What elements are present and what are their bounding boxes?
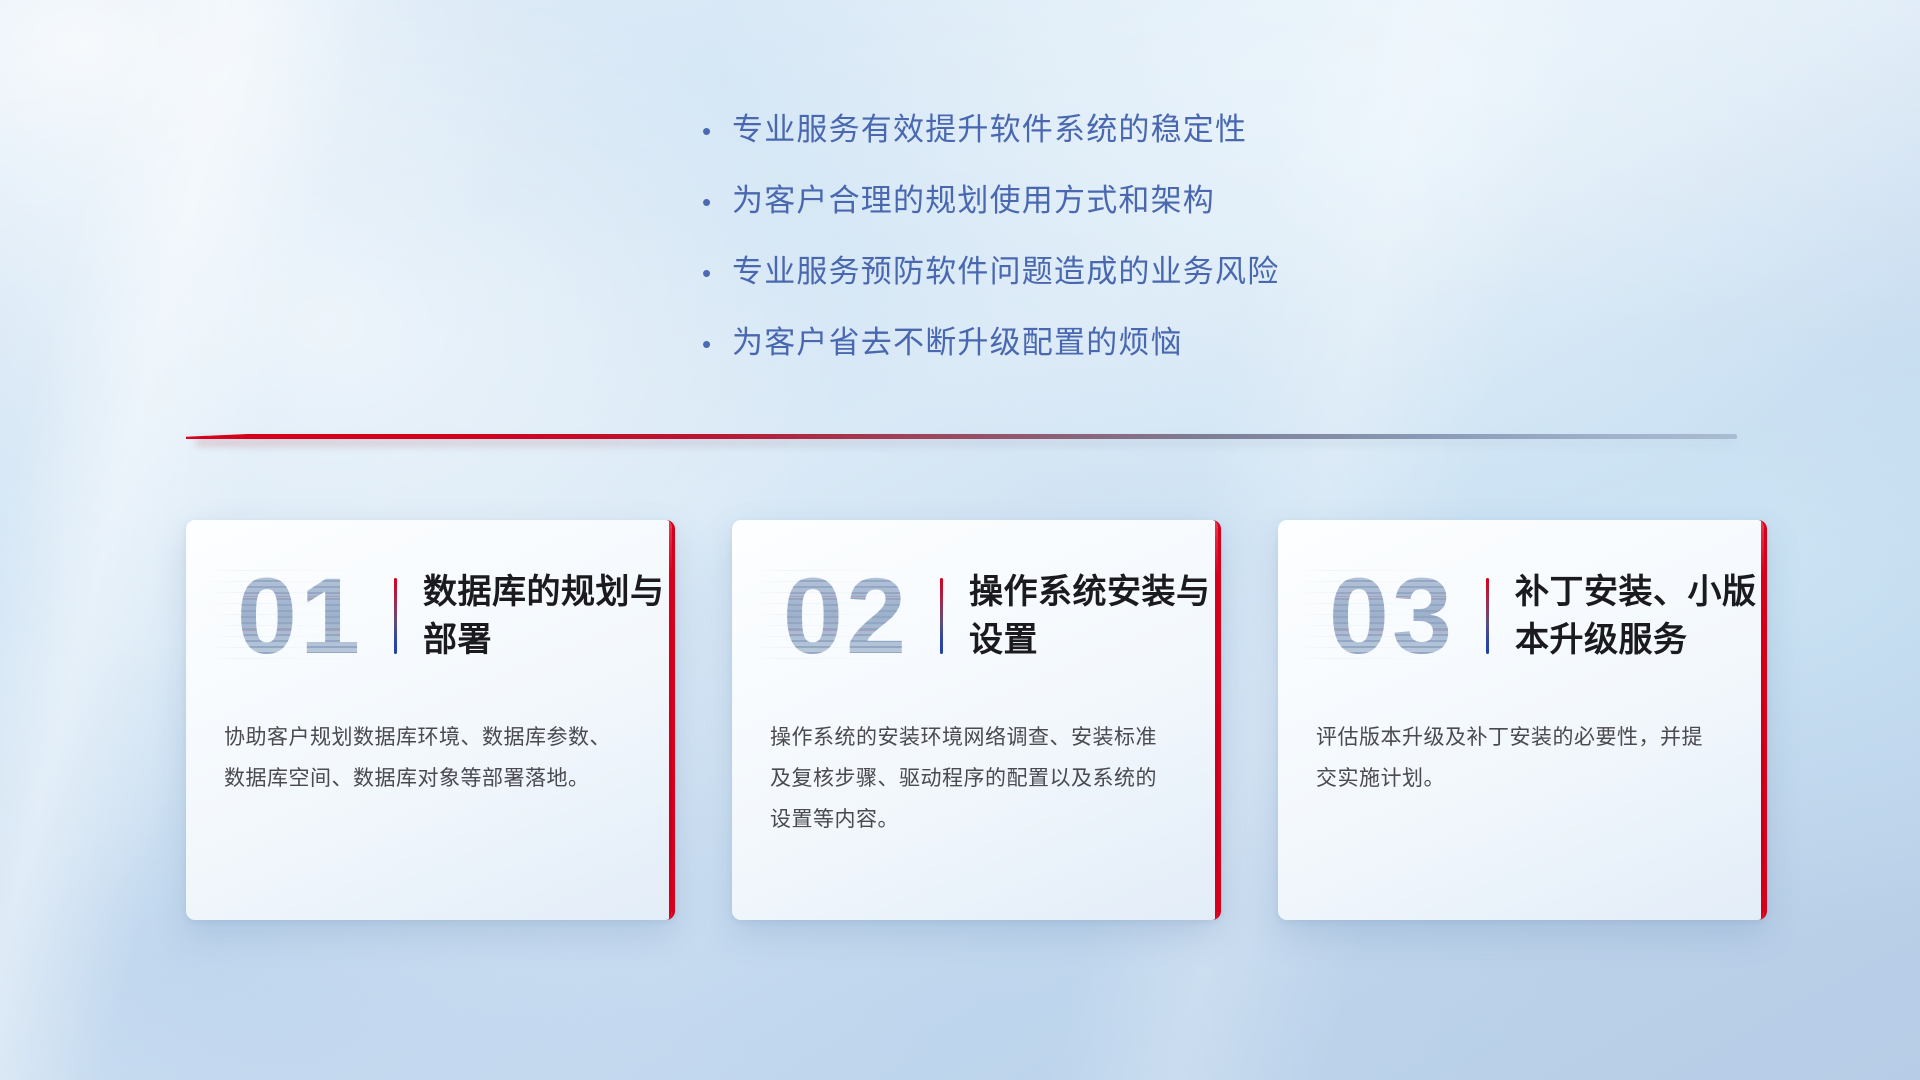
bullet-dot-icon: • — [702, 189, 732, 215]
accent-bar — [1486, 578, 1489, 654]
card-title: 补丁安装、小版本升级服务 — [1515, 568, 1764, 665]
divider-line — [186, 434, 1737, 439]
benefits-bullet-list: • 专业服务有效提升软件系统的稳定性 • 为客户合理的规划使用方式和架构 • 专… — [0, 104, 1920, 362]
service-card[interactable]: 01 数据库的规划与部署 协助客户规划数据库环境、数据库参数、数据库空间、数据库… — [186, 520, 675, 920]
list-item: • 为客户省去不断升级配置的烦恼 — [580, 317, 1340, 362]
bullet-text: 专业服务预防软件问题造成的业务风险 — [732, 246, 1279, 291]
bullet-dot-icon: • — [702, 331, 732, 357]
card-body-text: 操作系统的安装环境网络调查、安装标准及复核步骤、驱动程序的配置以及系统的设置等内… — [732, 712, 1218, 841]
bullet-text: 专业服务有效提升软件系统的稳定性 — [732, 104, 1247, 149]
card-title: 数据库的规划与部署 — [423, 568, 672, 665]
list-item: • 专业服务预防软件问题造成的业务风险 — [580, 246, 1340, 291]
card-body-text: 评估版本升级及补丁安装的必要性，并提交实施计划。 — [1278, 712, 1764, 800]
service-card-list: 01 数据库的规划与部署 协助客户规划数据库环境、数据库参数、数据库空间、数据库… — [186, 520, 1767, 920]
list-item: • 专业服务有效提升软件系统的稳定性 — [580, 104, 1340, 149]
card-title: 操作系统安装与设置 — [969, 568, 1218, 665]
bullet-dot-icon: • — [702, 260, 732, 286]
card-header: 02 操作系统安装与设置 — [732, 520, 1218, 712]
card-header: 01 数据库的规划与部署 — [186, 520, 672, 712]
bullet-dot-icon: • — [702, 118, 732, 144]
slide-canvas: • 专业服务有效提升软件系统的稳定性 • 为客户合理的规划使用方式和架构 • 专… — [0, 0, 1920, 1080]
card-header: 03 补丁安装、小版本升级服务 — [1278, 520, 1764, 712]
bullet-text: 为客户合理的规划使用方式和架构 — [732, 175, 1215, 220]
card-number-watermark: 01 — [220, 562, 380, 670]
card-body-text: 协助客户规划数据库环境、数据库参数、数据库空间、数据库对象等部署落地。 — [186, 712, 672, 800]
card-number-watermark: 03 — [1312, 562, 1472, 670]
divider-shadow — [196, 439, 1737, 446]
section-divider — [186, 430, 1737, 446]
card-number-watermark: 02 — [766, 562, 926, 670]
accent-bar — [394, 578, 397, 654]
service-card[interactable]: 02 操作系统安装与设置 操作系统的安装环境网络调查、安装标准及复核步骤、驱动程… — [732, 520, 1221, 920]
bullet-text: 为客户省去不断升级配置的烦恼 — [732, 317, 1183, 362]
list-item: • 为客户合理的规划使用方式和架构 — [580, 175, 1340, 220]
accent-bar — [940, 578, 943, 654]
service-card[interactable]: 03 补丁安装、小版本升级服务 评估版本升级及补丁安装的必要性，并提交实施计划。 — [1278, 520, 1767, 920]
